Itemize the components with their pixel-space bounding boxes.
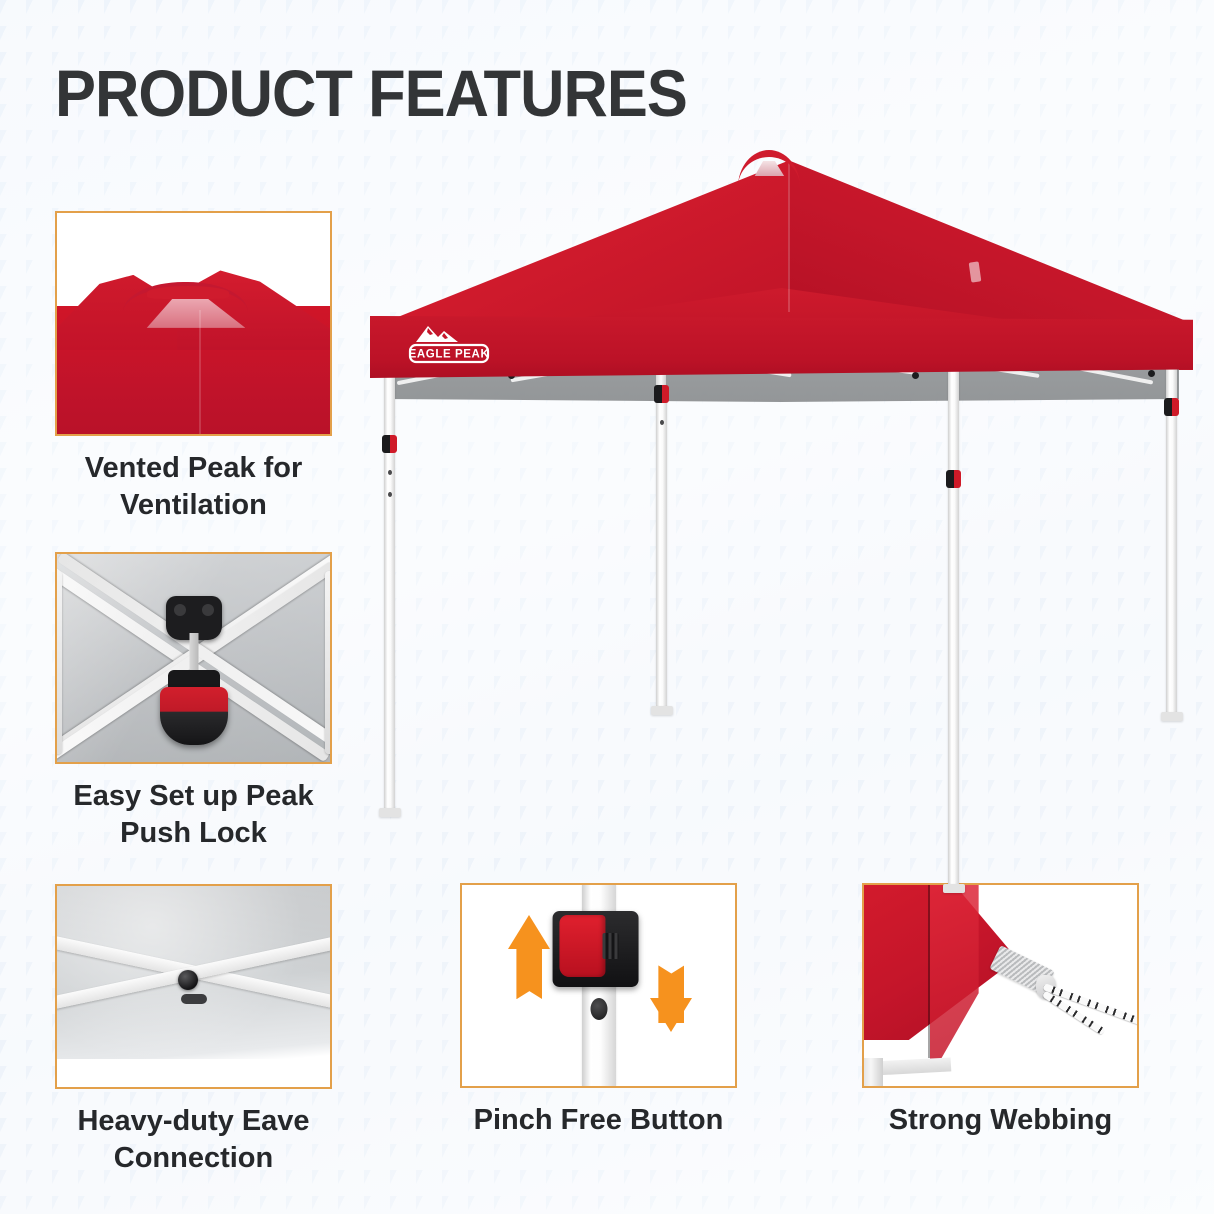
eave-bracket-shape (181, 994, 207, 1004)
feature-card-eave-connection: Heavy-duty Eave Connection (55, 884, 332, 1177)
leg-pole-shape (862, 1058, 883, 1086)
canopy-leg-foot (1161, 712, 1183, 721)
feature-thumbnail-pinch-free-button (460, 883, 737, 1088)
feature-thumbnail-strong-webbing (862, 883, 1139, 1088)
feature-card-strong-webbing: Strong Webbing (862, 883, 1139, 1139)
truss-joint-node (912, 372, 919, 379)
leg-push-button (654, 385, 669, 403)
thumb-lower-white-band (57, 1059, 330, 1087)
canopy-leg-front-left (384, 362, 395, 810)
arrow-up-icon-stem (516, 941, 542, 999)
feature-caption: Strong Webbing (862, 1102, 1139, 1139)
feature-thumbnail-eave-connection (55, 884, 332, 1089)
leg-push-button (946, 470, 961, 488)
feature-caption: Easy Set up Peak Push Lock (55, 778, 332, 852)
frame-edge-shape (55, 571, 62, 754)
canopy-peak-vent-lip (738, 150, 800, 187)
pole-adjustment-hole (590, 998, 607, 1020)
leg-adjustment-hole (388, 470, 392, 475)
push-lock-stem-shape (189, 633, 198, 675)
canopy-leg-foot (651, 706, 673, 715)
product-features-infographic: PRODUCT FEATURES Vented Peak for Ventila… (0, 0, 1214, 1214)
feature-caption: Vented Peak for Ventilation (55, 450, 332, 524)
leg-push-button (382, 435, 397, 453)
leg-push-button (1164, 398, 1179, 416)
red-push-button-shape (559, 915, 605, 977)
housing-grip-ridges (602, 933, 618, 959)
canopy-seam-line (928, 883, 930, 1058)
canopy-leg-front-right (948, 366, 959, 886)
vent-flap-shape (147, 286, 229, 299)
push-lock-knob-shape (160, 687, 228, 745)
eagle-peak-logo: EAGLE PEAK (394, 318, 522, 370)
leg-adjustment-hole (388, 492, 392, 497)
canopy-leg-rear-left (656, 386, 667, 708)
hero-product-image: EAGLE PEAK (360, 140, 1205, 880)
feature-card-vented-peak: Vented Peak for Ventilation (55, 211, 332, 524)
eagle-peak-logo-text: EAGLE PEAK (409, 349, 490, 361)
feature-card-pinch-free-button: Pinch Free Button (460, 883, 737, 1139)
feature-caption: Pinch Free Button (460, 1102, 737, 1139)
feature-caption: Heavy-duty Eave Connection (55, 1103, 332, 1177)
canopy-leg-foot (943, 884, 965, 893)
feature-thumbnail-vented-peak (55, 211, 332, 436)
truss-joint-node (1148, 370, 1155, 377)
leg-adjustment-hole (660, 420, 664, 425)
eave-bolt-shape (178, 970, 198, 990)
page-title: PRODUCT FEATURES (55, 55, 687, 131)
canopy-leg-foot (379, 808, 401, 817)
canopy-seam-line (199, 310, 201, 434)
feature-thumbnail-peak-push-lock (55, 552, 332, 764)
feature-card-peak-push-lock: Easy Set up Peak Push Lock (55, 552, 332, 852)
arrow-down-icon-stem (658, 965, 684, 1023)
frame-edge-shape (325, 571, 332, 754)
